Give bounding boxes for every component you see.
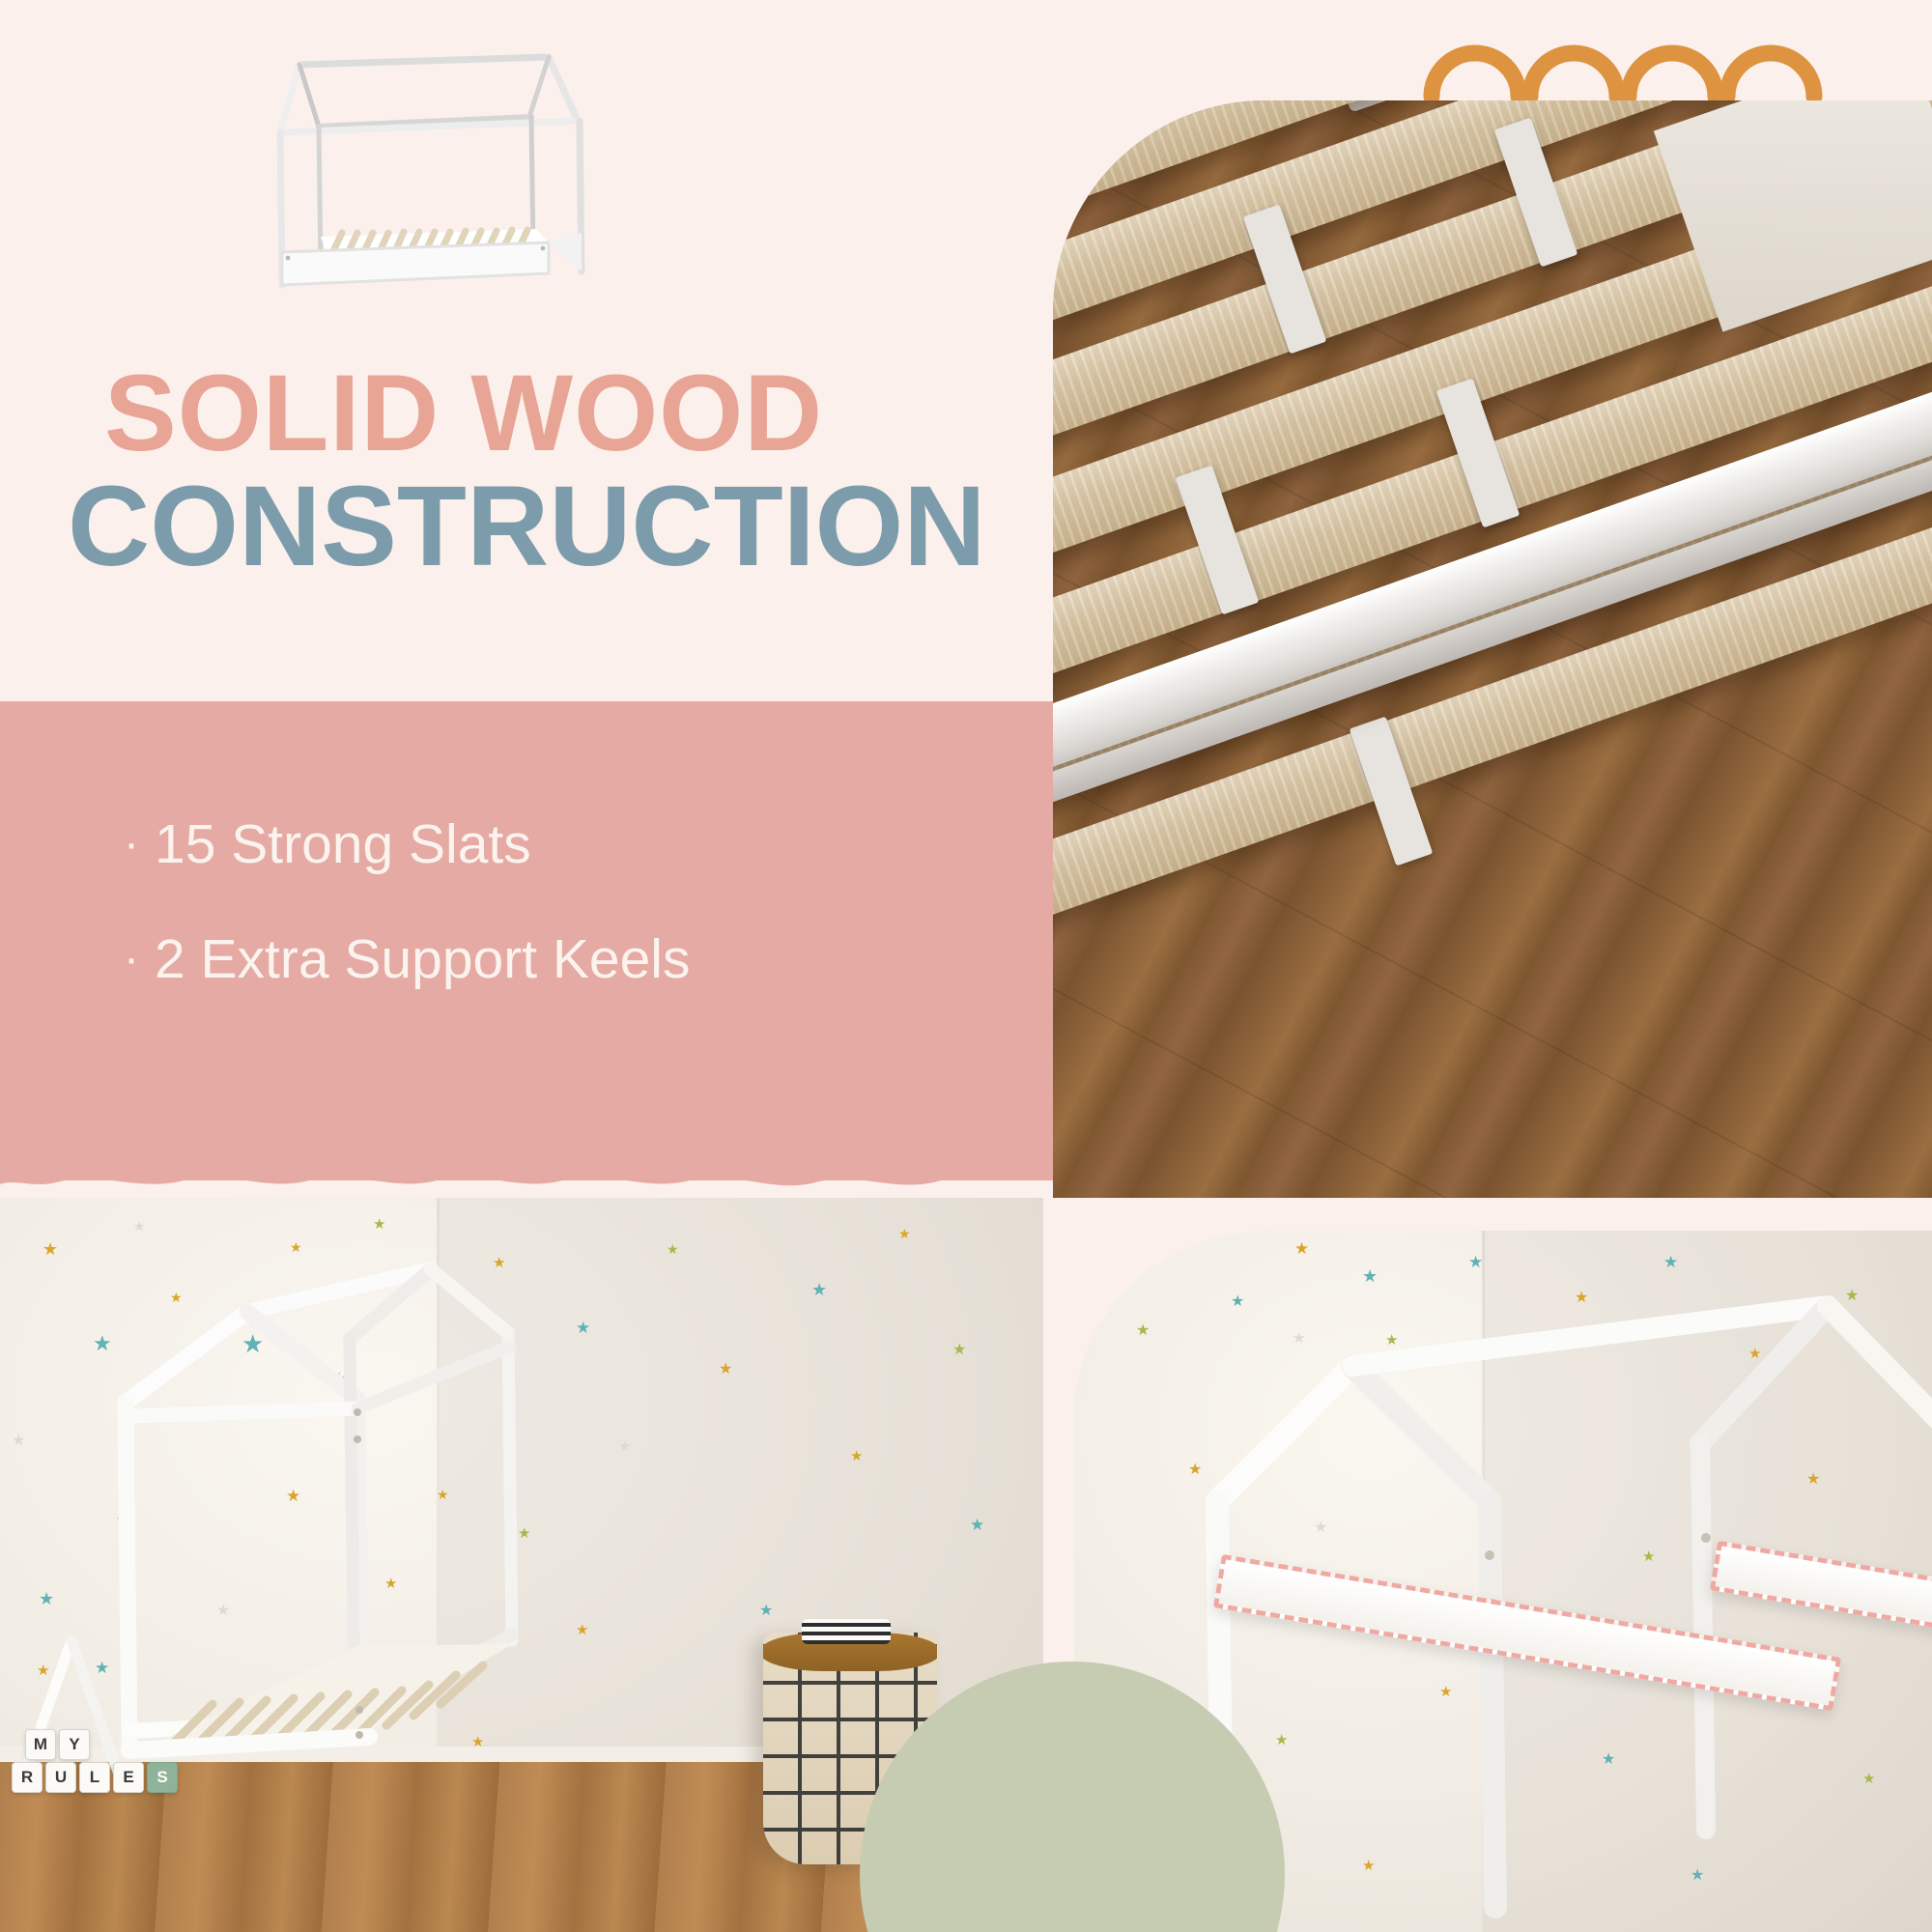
letter-block: E: [113, 1762, 144, 1793]
letter-block: S: [147, 1762, 178, 1793]
title-line-1: SOLID WOOD: [104, 362, 1032, 465]
letter-block: L: [79, 1762, 110, 1793]
list-item: · 15 Strong Slats: [124, 817, 993, 872]
basket-contents: [802, 1619, 891, 1644]
arch-decoration-icon: [1420, 8, 1826, 104]
wall-star: ★: [970, 1517, 984, 1533]
headline-block: SOLID WOOD CONSTRUCTION: [0, 0, 1063, 700]
wall-star: ★: [811, 1281, 827, 1298]
bullet-marker-icon: ·: [124, 821, 149, 867]
feature-label: 15 Strong Slats: [155, 817, 531, 872]
letter-block: U: [45, 1762, 76, 1793]
wall-star: ★: [952, 1343, 966, 1358]
wall-star: ★: [719, 1362, 732, 1378]
wall-star: ★: [667, 1242, 679, 1256]
slat-detail-photo: [1053, 100, 1932, 1198]
letter-block: M: [25, 1729, 56, 1760]
house-bed-frame: [68, 1209, 609, 1847]
list-item: · 2 Extra Support Keels: [124, 932, 993, 987]
letter-block: Y: [59, 1729, 90, 1760]
bullet-marker-icon: ·: [124, 936, 149, 982]
wall-star: ★: [850, 1449, 863, 1463]
wall-star: ★: [12, 1434, 25, 1449]
wall-star: ★: [898, 1227, 911, 1240]
wall-star: ★: [618, 1439, 631, 1454]
wall-star: ★: [43, 1240, 58, 1258]
feature-label: 2 Extra Support Keels: [155, 932, 690, 987]
title-line-2: CONSTRUCTION: [68, 472, 1032, 581]
wall-star: ★: [39, 1590, 54, 1607]
letter-block: R: [12, 1762, 43, 1793]
letter-blocks-row-1: M Y: [25, 1729, 90, 1760]
infographic-canvas: SOLID WOOD CONSTRUCTION · 15 Strong Slat…: [0, 0, 1932, 1932]
letter-blocks-row-2: R U L E S: [12, 1762, 178, 1793]
wall-star: ★: [759, 1604, 773, 1619]
feature-list: · 15 Strong Slats · 2 Extra Support Keel…: [124, 817, 993, 1047]
band-top-torn-edge: [0, 692, 1063, 732]
teepee-star: ★: [37, 1663, 49, 1678]
teepee-star: ★: [95, 1660, 109, 1676]
band-bottom-torn-edge: [0, 1155, 1063, 1200]
page-title: SOLID WOOD CONSTRUCTION: [104, 362, 1032, 581]
